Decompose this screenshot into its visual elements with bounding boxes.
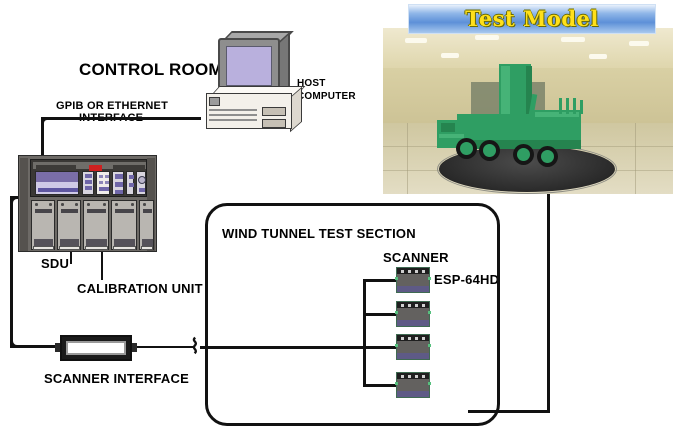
- host-computer: [200, 38, 308, 136]
- card-connector: [86, 239, 107, 246]
- card-screw: [143, 203, 146, 206]
- card-screw: [87, 203, 90, 206]
- cable-left-vertical: [10, 199, 13, 348]
- module-pin: [395, 382, 398, 385]
- card-screw: [61, 203, 64, 206]
- rack-card: [31, 200, 55, 250]
- model-wheel-2: [479, 140, 500, 161]
- ceiling-light: [629, 41, 649, 46]
- module-top-band: [397, 268, 429, 274]
- keypad-button[interactable]: [129, 183, 134, 187]
- keypad-button[interactable]: [115, 190, 123, 194]
- cable-model-vertical: [547, 190, 550, 412]
- module-tick: [408, 337, 411, 340]
- cable-interface-to-tunnel: [131, 346, 193, 348]
- keypad-button[interactable]: [129, 175, 134, 179]
- keypad-button[interactable]: [99, 181, 103, 184]
- wind-tunnel-test-section-box: [205, 203, 500, 426]
- model-wheel-3: [513, 144, 534, 165]
- computer-interface-port: [209, 97, 220, 106]
- rack-card: [57, 200, 81, 250]
- case-vent-1: [209, 109, 257, 111]
- keypad-button[interactable]: [105, 175, 109, 178]
- module-tick: [401, 270, 404, 273]
- card-screw: [115, 203, 118, 206]
- model-rail-3: [573, 98, 576, 114]
- label-scanner-interface: SCANNER INTERFACE: [44, 371, 189, 386]
- case-vent-2: [209, 114, 257, 116]
- rack-card: [83, 200, 109, 250]
- case-vent-3: [209, 119, 257, 121]
- card-connector: [60, 239, 79, 246]
- scanner-module-2: [396, 301, 430, 327]
- module-tick: [408, 304, 411, 307]
- monitor-screen: [226, 46, 272, 86]
- rack-card: [139, 200, 154, 250]
- model-cab-window: [441, 123, 455, 132]
- module-bottom-band: [397, 391, 429, 397]
- lcd-upper-area: [36, 172, 78, 182]
- model-wheel-1: [456, 138, 477, 159]
- card-foot: [113, 246, 136, 250]
- unit-nameplate-left: [36, 165, 76, 171]
- keypad-panel-c[interactable]: [112, 171, 124, 195]
- keypad-button[interactable]: [115, 174, 123, 179]
- ceiling-light: [589, 54, 607, 59]
- unit-nameplate-right: [113, 165, 145, 171]
- test-model-photo: [383, 28, 673, 194]
- drive-bay-2: [262, 119, 286, 128]
- lcd-readout-row: [38, 188, 78, 192]
- scanner-interface-box: [60, 335, 132, 361]
- label-interface-line1: GPIB OR ETHERNET: [56, 100, 168, 112]
- scanner-interface-faceplate: [66, 341, 126, 355]
- rack-card: [111, 200, 137, 250]
- model-rail-2: [566, 98, 569, 114]
- module-bottom-band: [397, 320, 429, 326]
- module-tick: [408, 375, 411, 378]
- module-tick: [415, 304, 418, 307]
- card-foot: [85, 246, 108, 250]
- card-screw: [35, 203, 38, 206]
- model-mast-highlight: [501, 66, 510, 120]
- module-tick: [422, 337, 425, 340]
- module-top-band: [397, 373, 429, 379]
- unit-top-strip: [33, 162, 146, 169]
- label-sdu: SDU: [41, 256, 69, 271]
- leader-line-calibration-unit: [101, 250, 103, 280]
- floor-grid-line: [635, 123, 636, 194]
- rack-rail-left: [20, 158, 28, 251]
- card-label: [35, 209, 52, 213]
- card-screw: [103, 203, 106, 206]
- keypad-button[interactable]: [105, 181, 109, 184]
- module-tick: [415, 270, 418, 273]
- scanner-module-4: [396, 372, 430, 398]
- card-connector: [114, 239, 135, 246]
- module-tick: [408, 270, 411, 273]
- module-pin: [428, 382, 431, 385]
- card-screw: [49, 203, 52, 206]
- module-tick: [422, 270, 425, 273]
- module-tick: [401, 304, 404, 307]
- keypad-button[interactable]: [99, 187, 109, 191]
- model-rail-4: [580, 100, 583, 114]
- model-wheel-4: [537, 146, 558, 167]
- module-pin: [428, 277, 431, 280]
- cable-break-symbol: ⌇: [190, 334, 200, 359]
- model-cab-highlight: [439, 134, 464, 138]
- module-pin: [428, 344, 431, 347]
- module-top-band: [397, 302, 429, 308]
- leader-line-sdu: [70, 252, 72, 264]
- module-tick: [415, 337, 418, 340]
- card-screw: [75, 203, 78, 206]
- module-tick: [401, 337, 404, 340]
- diagram-canvas: CONTROL ROOM HOST COMPUTER GPIB OR ETHER…: [0, 0, 676, 438]
- module-bottom-band: [397, 353, 429, 359]
- card-foot: [141, 246, 153, 250]
- ceiling-light: [561, 37, 585, 42]
- ceiling-light: [441, 53, 459, 58]
- sdu-rack: [18, 155, 157, 252]
- keypad-button[interactable]: [115, 182, 123, 187]
- model-rail-1: [559, 98, 562, 114]
- card-foot: [33, 246, 54, 250]
- keypad-button[interactable]: [99, 175, 103, 178]
- calibration-unit-panel: [30, 159, 147, 197]
- scanner-module-1: [396, 267, 430, 293]
- module-tick: [415, 375, 418, 378]
- module-tick: [422, 304, 425, 307]
- cable-gpib-horizontal: [41, 117, 201, 120]
- module-pin: [395, 344, 398, 347]
- keypad-button[interactable]: [85, 186, 92, 190]
- keypad-button[interactable]: [85, 174, 92, 178]
- drive-bay-1: [262, 107, 286, 116]
- card-connector: [142, 239, 153, 246]
- card-label: [87, 209, 106, 213]
- cable-gpib-corner: [41, 117, 49, 125]
- knob-panel[interactable]: [136, 171, 146, 195]
- rotary-knob[interactable]: [138, 176, 146, 184]
- module-bottom-band: [397, 286, 429, 292]
- banner-title: Test Model: [409, 5, 655, 33]
- module-pin: [428, 311, 431, 314]
- test-model-banner: Test Model: [408, 4, 656, 34]
- module-tick: [401, 375, 404, 378]
- card-screw: [131, 203, 134, 206]
- card-connector: [34, 239, 53, 246]
- unit-lcd-display: [35, 171, 79, 195]
- label-calibration-unit: CALIBRATION UNIT: [77, 281, 203, 296]
- floor-grid-line: [407, 123, 408, 194]
- module-top-band: [397, 335, 429, 341]
- module-tick: [422, 375, 425, 378]
- knob-indicator[interactable]: [139, 188, 145, 192]
- keypad-panel-a[interactable]: [82, 171, 94, 195]
- ceiling-light: [475, 35, 499, 40]
- card-label: [61, 209, 78, 213]
- unit-power-indicator: [89, 165, 102, 171]
- keypad-panel-d[interactable]: [126, 171, 134, 195]
- card-label: [115, 209, 134, 213]
- keypad-button[interactable]: [85, 180, 92, 184]
- scanner-module-3: [396, 334, 430, 360]
- module-pin: [395, 311, 398, 314]
- ceiling-light: [405, 38, 427, 43]
- module-pin: [395, 277, 398, 280]
- card-foot: [59, 246, 80, 250]
- keypad-panel-b[interactable]: [96, 171, 110, 195]
- card-label: [143, 209, 152, 213]
